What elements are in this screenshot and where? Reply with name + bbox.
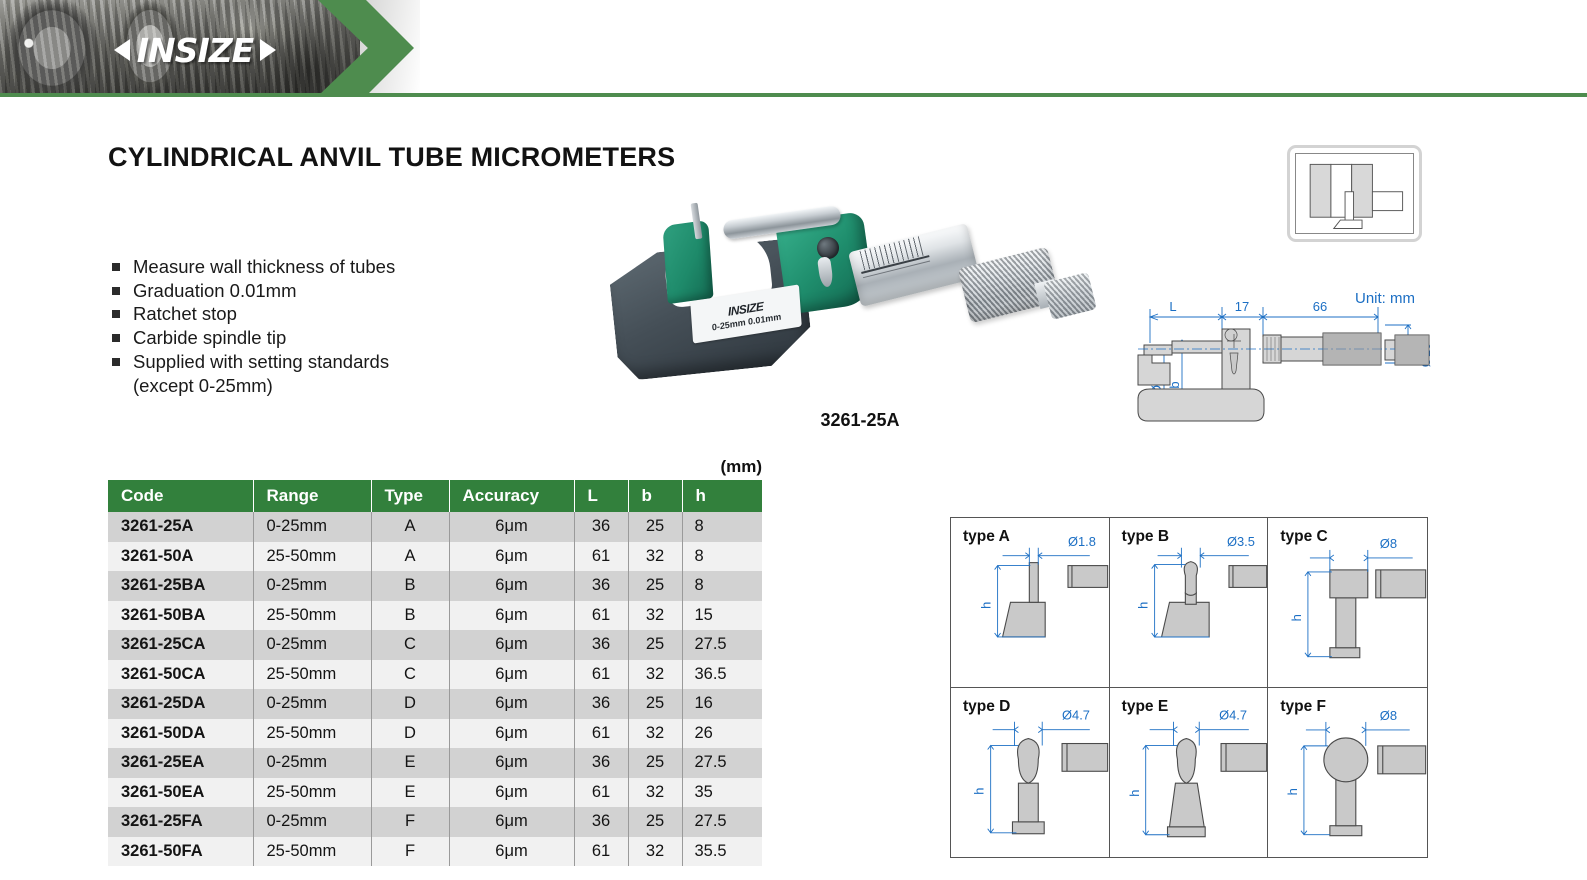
- table-cell-l: 61: [574, 542, 628, 572]
- table-cell-code: 3261-50EA: [108, 778, 253, 808]
- specifications-table: Code Range Type Accuracy L b h 3261-25A0…: [108, 480, 762, 866]
- table-row: 3261-50EA25-50mmE6μm613235: [108, 778, 762, 808]
- table-cell-type: E: [371, 748, 449, 778]
- dimension-drawing: L 17 66 Ø18 Ø6.5 b: [1130, 285, 1460, 430]
- table-cell-accuracy: 6μm: [449, 512, 574, 542]
- table-cell-b: 32: [628, 837, 682, 867]
- table-cell-b: 25: [628, 689, 682, 719]
- table-cell-code: 3261-25EA: [108, 748, 253, 778]
- table-cell-accuracy: 6μm: [449, 601, 574, 631]
- dimension-drawing-svg: L 17 66 Ø18 Ø6.5 b: [1130, 285, 1460, 430]
- micrometer-anvil-arm: [662, 220, 713, 304]
- table-cell-accuracy: 6μm: [449, 571, 574, 601]
- table-cell-l: 36: [574, 571, 628, 601]
- table-cell-b: 25: [628, 571, 682, 601]
- product-photo: INSIZE 0-25mm 0.01mm: [595, 185, 1125, 400]
- table-cell-l: 36: [574, 748, 628, 778]
- column-header-code: Code: [108, 480, 253, 512]
- table-cell-range: 25-50mm: [253, 542, 371, 572]
- page-title: CYLINDRICAL ANVIL TUBE MICROMETERS: [108, 142, 675, 173]
- table-cell-type: D: [371, 719, 449, 749]
- table-cell-h: 15: [682, 601, 762, 631]
- type-label-f: type F: [1280, 698, 1326, 716]
- table-cell-h: 16: [682, 689, 762, 719]
- table-cell-accuracy: 6μm: [449, 837, 574, 867]
- application-schematic-svg: [1296, 154, 1413, 235]
- table-cell-range: 25-50mm: [253, 601, 371, 631]
- type-cell-f: type F Ø8 h: [1268, 688, 1427, 858]
- table-cell-type: C: [371, 630, 449, 660]
- type-e-diameter: Ø4.7: [1219, 707, 1247, 722]
- table-row: 3261-25CA0-25mmC6μm362527.5: [108, 630, 762, 660]
- table-row: 3261-50BA25-50mmB6μm613215: [108, 601, 762, 631]
- table-cell-code: 3261-50A: [108, 542, 253, 572]
- table-cell-range: 25-50mm: [253, 837, 371, 867]
- table-cell-l: 36: [574, 689, 628, 719]
- feature-list: Measure wall thickness of tubes Graduati…: [110, 255, 530, 397]
- table-cell-type: F: [371, 837, 449, 867]
- column-header-l: L: [574, 480, 628, 512]
- table-cell-l: 36: [574, 807, 628, 837]
- table-row: 3261-25EA0-25mmE6μm362527.5: [108, 748, 762, 778]
- table-cell-type: A: [371, 542, 449, 572]
- table-cell-l: 36: [574, 512, 628, 542]
- list-item: Graduation 0.01mm: [110, 279, 530, 302]
- table-cell-code: 3261-50CA: [108, 660, 253, 690]
- table-cell-type: A: [371, 512, 449, 542]
- product-caption: 3261-25A: [595, 410, 1125, 431]
- table-cell-l: 61: [574, 601, 628, 631]
- table-cell-range: 0-25mm: [253, 571, 371, 601]
- table-cell-type: B: [371, 571, 449, 601]
- table-row: 3261-25BA0-25mmB6μm36258: [108, 571, 762, 601]
- dim-L: L: [1169, 299, 1176, 314]
- table-cell-accuracy: 6μm: [449, 689, 574, 719]
- table-cell-accuracy: 6μm: [449, 660, 574, 690]
- table-cell-h: 36.5: [682, 660, 762, 690]
- table-cell-code: 3261-50FA: [108, 837, 253, 867]
- table-cell-code: 3261-50DA: [108, 719, 253, 749]
- table-cell-accuracy: 6μm: [449, 542, 574, 572]
- table-row: 3261-25A0-25mmA6μm36258: [108, 512, 762, 542]
- column-header-b: b: [628, 480, 682, 512]
- table-cell-range: 0-25mm: [253, 689, 371, 719]
- table-cell-l: 61: [574, 719, 628, 749]
- list-item: Measure wall thickness of tubes: [110, 255, 530, 278]
- table-cell-code: 3261-25FA: [108, 807, 253, 837]
- page-header: INSIZE: [0, 0, 1587, 96]
- table-cell-l: 61: [574, 778, 628, 808]
- list-item-continuation: (except 0-25mm): [110, 374, 530, 397]
- type-label-e: type E: [1122, 698, 1169, 716]
- table-cell-range: 0-25mm: [253, 748, 371, 778]
- table-cell-range: 25-50mm: [253, 660, 371, 690]
- table-cell-range: 25-50mm: [253, 719, 371, 749]
- table-cell-h: 27.5: [682, 630, 762, 660]
- table-cell-h: 27.5: [682, 807, 762, 837]
- header-green-rule: [0, 93, 1587, 97]
- application-schematic-icon: [1287, 145, 1422, 242]
- type-cell-b: type B Ø3.5: [1110, 518, 1269, 688]
- table-cell-accuracy: 6μm: [449, 630, 574, 660]
- type-cell-c: type C Ø8 h: [1268, 518, 1427, 688]
- table-cell-b: 32: [628, 601, 682, 631]
- table-cell-b: 25: [628, 807, 682, 837]
- table-cell-code: 3261-25CA: [108, 630, 253, 660]
- anvil-type-diagram-grid: type A Ø1.8 h: [950, 517, 1428, 858]
- table-cell-type: D: [371, 689, 449, 719]
- table-cell-l: 61: [574, 837, 628, 867]
- table-cell-h: 8: [682, 571, 762, 601]
- table-cell-b: 32: [628, 660, 682, 690]
- type-c-height: h: [1289, 614, 1304, 621]
- type-cell-e: type E Ø4.7: [1110, 688, 1269, 858]
- table-cell-type: C: [371, 660, 449, 690]
- application-schematic-inner: [1295, 153, 1414, 234]
- table-cell-accuracy: 6μm: [449, 719, 574, 749]
- table-cell-h: 8: [682, 512, 762, 542]
- list-item: Supplied with setting standards: [110, 350, 530, 373]
- insize-logo-text: INSIZE: [117, 31, 273, 70]
- table-cell-range: 0-25mm: [253, 512, 371, 542]
- table-row: 3261-25FA0-25mmF6μm362527.5: [108, 807, 762, 837]
- type-b-height: h: [1135, 602, 1150, 609]
- table-cell-type: E: [371, 778, 449, 808]
- type-d-height: h: [972, 787, 987, 794]
- table-row: 3261-50A25-50mmA6μm61328: [108, 542, 762, 572]
- table-row: 3261-25DA0-25mmD6μm362516: [108, 689, 762, 719]
- table-cell-code: 3261-25A: [108, 512, 253, 542]
- table-cell-h: 35.5: [682, 837, 762, 867]
- column-header-h: h: [682, 480, 762, 512]
- type-label-a: type A: [963, 528, 1010, 546]
- table-cell-b: 32: [628, 542, 682, 572]
- insize-logo: INSIZE: [100, 30, 290, 70]
- table-cell-code: 3261-25BA: [108, 571, 253, 601]
- table-cell-code: 3261-50BA: [108, 601, 253, 631]
- type-label-c: type C: [1280, 528, 1327, 546]
- table-row: 3261-50DA25-50mmD6μm613226: [108, 719, 762, 749]
- table-header-row: Code Range Type Accuracy L b h: [108, 480, 762, 512]
- table-cell-range: 0-25mm: [253, 630, 371, 660]
- type-cell-a: type A Ø1.8 h: [951, 518, 1110, 688]
- table-cell-h: 26: [682, 719, 762, 749]
- table-body: 3261-25A0-25mmA6μm362583261-50A25-50mmA6…: [108, 512, 762, 866]
- type-label-d: type D: [963, 698, 1010, 716]
- table-cell-accuracy: 6μm: [449, 807, 574, 837]
- table-row: 3261-50FA25-50mmF6μm613235.5: [108, 837, 762, 867]
- table-cell-h: 8: [682, 542, 762, 572]
- table-cell-type: B: [371, 601, 449, 631]
- table-row: 3261-50CA25-50mmC6μm613236.5: [108, 660, 762, 690]
- table-cell-h: 27.5: [682, 748, 762, 778]
- type-label-b: type B: [1122, 528, 1169, 546]
- dim-17: 17: [1235, 299, 1249, 314]
- type-a-height: h: [979, 602, 994, 609]
- type-f-diameter: Ø8: [1380, 707, 1397, 722]
- type-f-height: h: [1285, 788, 1300, 795]
- column-header-accuracy: Accuracy: [449, 480, 574, 512]
- type-cell-d: type D Ø4.7: [951, 688, 1110, 858]
- type-a-diameter: Ø1.8: [1068, 534, 1096, 549]
- table-cell-range: 0-25mm: [253, 807, 371, 837]
- table-cell-code: 3261-25DA: [108, 689, 253, 719]
- table-cell-h: 35: [682, 778, 762, 808]
- type-c-diameter: Ø8: [1380, 536, 1397, 551]
- table-cell-l: 61: [574, 660, 628, 690]
- list-item: Carbide spindle tip: [110, 326, 530, 349]
- type-d-diameter: Ø4.7: [1062, 707, 1090, 722]
- type-e-height: h: [1126, 789, 1141, 796]
- dim-66: 66: [1313, 299, 1327, 314]
- column-header-range: Range: [253, 480, 371, 512]
- table-cell-type: F: [371, 807, 449, 837]
- column-header-type: Type: [371, 480, 449, 512]
- table-cell-accuracy: 6μm: [449, 748, 574, 778]
- table-unit-note: (mm): [500, 457, 762, 477]
- table-cell-b: 25: [628, 748, 682, 778]
- table-cell-b: 32: [628, 719, 682, 749]
- table-cell-l: 36: [574, 630, 628, 660]
- type-b-diameter: Ø3.5: [1227, 534, 1255, 549]
- list-item: Ratchet stop: [110, 302, 530, 325]
- table-cell-b: 32: [628, 778, 682, 808]
- table-cell-b: 25: [628, 512, 682, 542]
- table-cell-b: 25: [628, 630, 682, 660]
- table-cell-range: 25-50mm: [253, 778, 371, 808]
- table-cell-accuracy: 6μm: [449, 778, 574, 808]
